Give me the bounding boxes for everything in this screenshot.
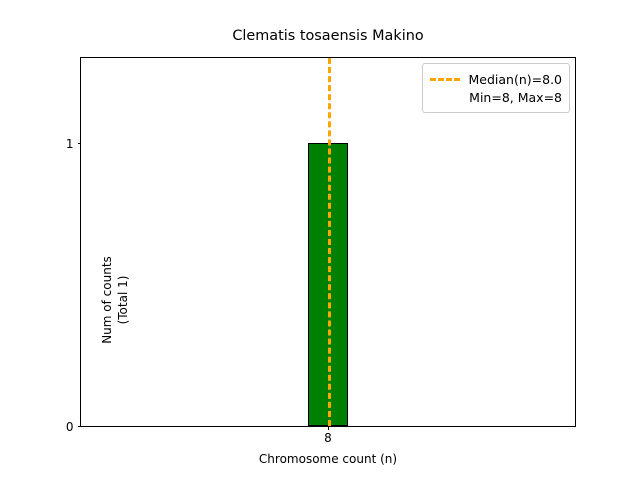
y-tick-label-1: 1 — [66, 137, 74, 151]
chart-figure: Clematis tosaensis Makino 0 1 8 Num of c… — [0, 0, 640, 480]
y-tick-1: 1 — [78, 143, 82, 144]
x-tick-8 — [328, 426, 329, 430]
x-axis-label: Chromosome count (n) — [80, 452, 576, 466]
legend-entry-median: Median(n)=8.0 — [430, 70, 563, 88]
page-title: Clematis tosaensis Makino — [80, 29, 576, 43]
y-axis-label-line1: Num of counts — [100, 220, 114, 380]
y-tick-0: 0 — [78, 426, 82, 427]
y-axis-label-line2: (Total 1) — [116, 220, 130, 380]
legend-entry-minmax: Min=8, Max=8 — [430, 88, 563, 106]
median-line — [328, 58, 331, 426]
legend-label-median: Median(n)=8.0 — [469, 72, 563, 87]
x-tick-label-8: 8 — [324, 431, 332, 445]
legend: Median(n)=8.0 Min=8, Max=8 — [422, 63, 571, 113]
dashed-line-icon — [430, 78, 460, 81]
legend-label-minmax: Min=8, Max=8 — [469, 90, 562, 105]
plot-area: 0 1 8 Num of counts (Total 1) Median(n)=… — [80, 57, 576, 427]
y-tick-label-0: 0 — [66, 420, 74, 434]
